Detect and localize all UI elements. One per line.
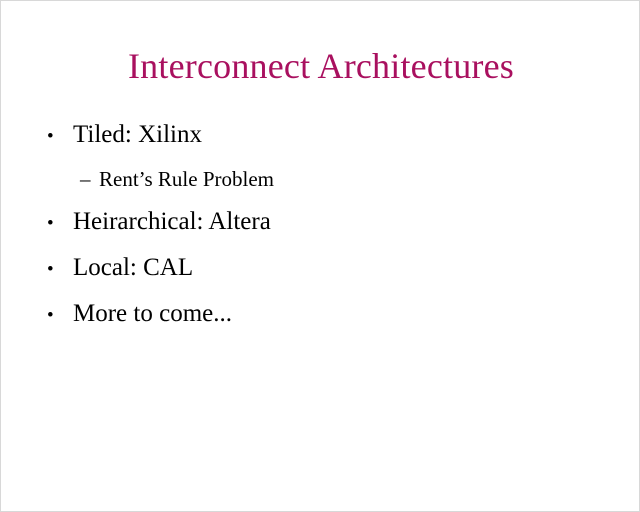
bullet-dot-icon: • (47, 294, 73, 338)
slide-body-bullet-list: • Tiled: Xilinx – Rent’s Rule Problem • … (1, 113, 640, 338)
bullet-text: Rent’s Rule Problem (99, 159, 274, 200)
bullet-text: Heirarchical: Altera (73, 200, 271, 244)
bullet-item-level1: • Tiled: Xilinx (1, 113, 640, 159)
bullet-item-level1: • Heirarchical: Altera (1, 200, 640, 246)
bullet-item-level2: – Rent’s Rule Problem (1, 159, 640, 200)
bullet-text: More to come... (73, 292, 232, 336)
bullet-item-level1: • More to come... (1, 292, 640, 338)
bullet-text: Local: CAL (73, 246, 193, 290)
slide-title: Interconnect Architectures (1, 45, 640, 87)
presentation-slide: Interconnect Architectures • Tiled: Xili… (0, 0, 640, 512)
bullet-dot-icon: • (47, 248, 73, 292)
bullet-dot-icon: • (47, 202, 73, 246)
bullet-dash-icon: – (80, 159, 99, 200)
bullet-text: Tiled: Xilinx (73, 113, 202, 157)
bullet-item-level1: • Local: CAL (1, 246, 640, 292)
bullet-dot-icon: • (47, 115, 73, 159)
